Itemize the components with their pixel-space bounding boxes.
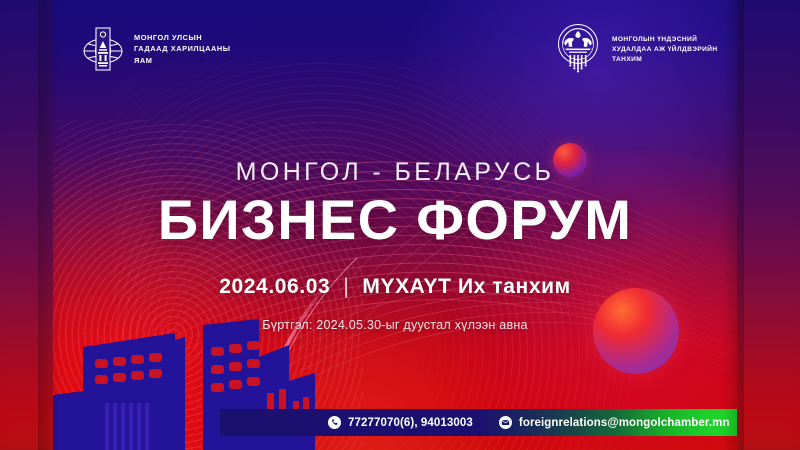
poster-meta: 2024.06.03 | MYXAYT Их танхим (53, 275, 737, 299)
phone-icon (328, 416, 341, 429)
contact-bar: 77277070(6), 94013003 foreignrelations@m… (220, 409, 737, 436)
poster-frame: МОНГОЛ УЛСЫН ГАДААД ХАРИЛЦААНЫ ЯАМ (0, 0, 800, 450)
contact-bar-items: 77277070(6), 94013003 foreignrelations@m… (220, 416, 730, 429)
contact-email[interactable]: foreignrelations@mongolchamber.mn (499, 416, 730, 429)
poster-venue: MYXAYT Их танхим (362, 275, 570, 299)
contact-phone[interactable]: 77277070(6), 94013003 (328, 416, 473, 429)
logo-row: МОНГОЛ УЛСЫН ГАДААД ХАРИЛЦААНЫ ЯАМ (53, 0, 737, 110)
contact-email-text: foreignrelations@mongolchamber.mn (519, 417, 730, 429)
poster-content-panel: МОНГОЛ УЛСЫН ГАДААД ХАРИЛЦААНЫ ЯАМ (53, 0, 737, 450)
globe-soyombo-icon (81, 24, 125, 74)
logo-chamber-of-commerce: МОНГОЛЫН ҮНДЭСНИЙ ХУДАЛДАА АЖ ҮЙЛДВЭРИЙН… (553, 22, 718, 78)
poster-title: БИЗНЕС ФОРУМ (53, 192, 737, 248)
registration-note: Бүртгэл: 2024.05.30-ыг дуустал хүлээн ав… (53, 318, 737, 332)
poster-date: 2024.06.03 (219, 275, 330, 299)
logo-right-label: МОНГОЛЫН ҮНДЭСНИЙ ХУДАЛДАА АЖ ҮЙЛДВЭРИЙН… (612, 35, 718, 66)
logo-left-label: МОНГОЛ УЛСЫН ГАДААД ХАРИЛЦААНЫ ЯАМ (134, 32, 231, 66)
contact-phone-text: 77277070(6), 94013003 (348, 417, 473, 429)
poster-kicker: МОНГОЛ - БЕЛАРУСЬ (53, 158, 737, 187)
chamber-horses-emblem-icon (553, 22, 603, 78)
envelope-icon (499, 416, 512, 429)
logo-ministry-foreign-affairs: МОНГОЛ УЛСЫН ГАДААД ХАРИЛЦААНЫ ЯАМ (81, 24, 231, 74)
meta-divider: | (343, 275, 349, 299)
